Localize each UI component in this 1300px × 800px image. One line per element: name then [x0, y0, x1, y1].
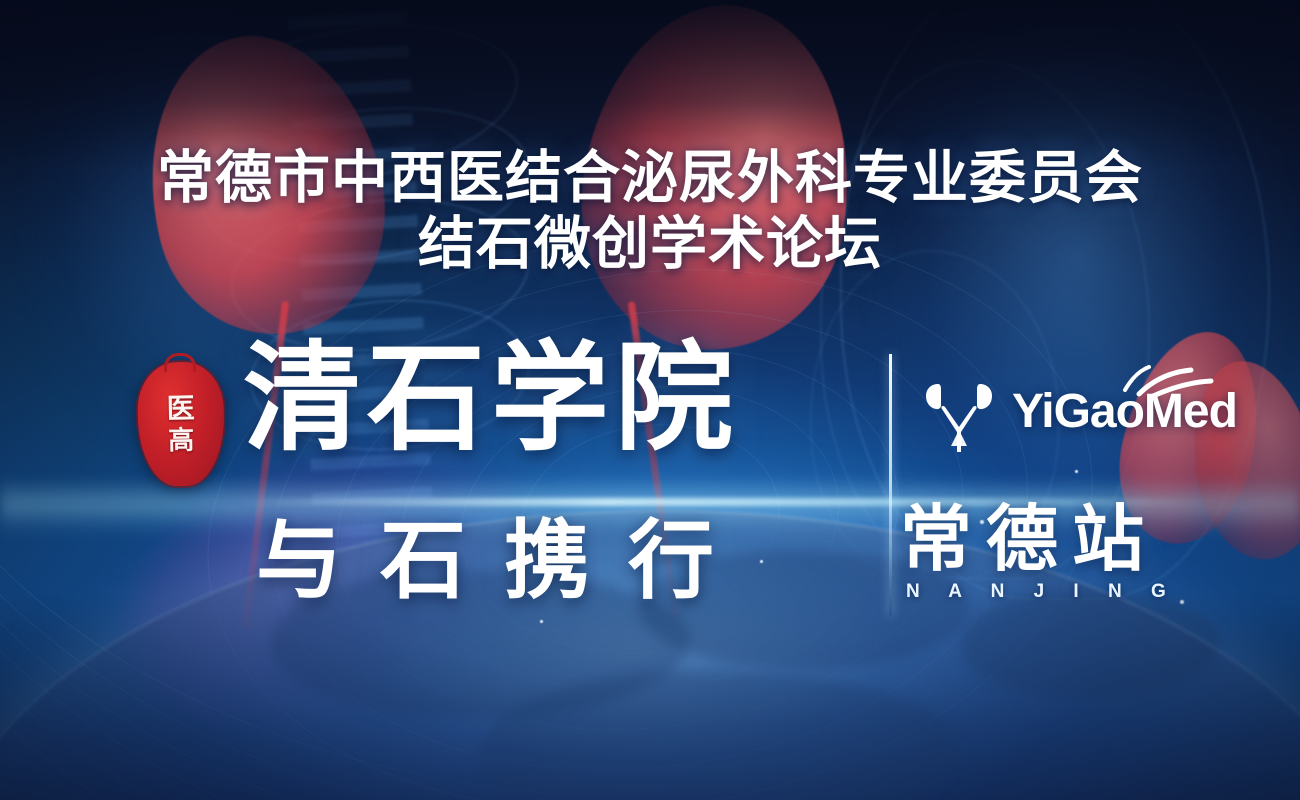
- headline-line-1: 常德市中西医结合泌尿外科专业委员会: [157, 146, 1143, 210]
- red-seal: 医 高: [137, 361, 225, 486]
- station-name-zh: 常德站: [900, 504, 1158, 576]
- headline-line-2: 结石微创学术论坛: [0, 214, 1300, 276]
- poster-headline: 常德市中西医结合泌尿外科专业委员会 结石微创学术论坛: [0, 148, 1300, 275]
- station-name-en: N A N J I N G: [906, 582, 1178, 601]
- page-title: 清石学院: [243, 340, 739, 458]
- swoosh-icon: [1119, 364, 1215, 398]
- conference-poster: 常德市中西医结合泌尿外科专业委员会 结石微创学术论坛 医 高 清石学院 与石携行: [0, 0, 1300, 800]
- vertical-divider: [889, 354, 892, 616]
- poster-slogan: 与石携行: [256, 518, 752, 604]
- kidney-urinary-tract-icon: [916, 380, 1002, 454]
- seal-char-top: 医: [166, 394, 195, 424]
- brand-lockup: YiGaoMed: [916, 380, 1216, 452]
- poster-main-row: 医 高 清石学院 与石携行 YiGaoMe: [0, 336, 1300, 626]
- seal-char-bottom: 高: [168, 427, 194, 454]
- poster-content: 常德市中西医结合泌尿外科专业委员会 结石微创学术论坛 医 高 清石学院 与石携行: [0, 0, 1300, 800]
